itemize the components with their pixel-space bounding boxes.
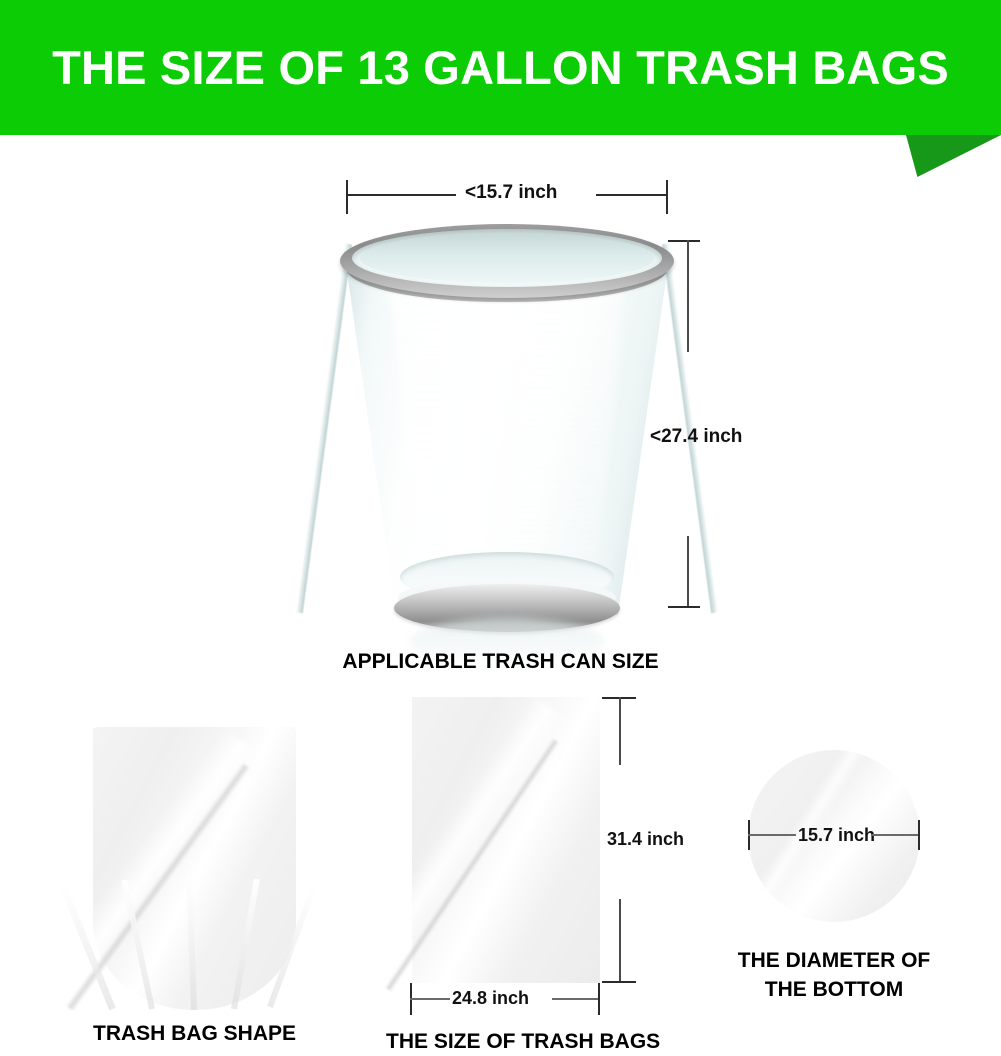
bag-width-line-left [410,998,450,1000]
flat-bag-crease [385,738,559,991]
header-banner: THE SIZE OF 13 GALLON TRASH BAGS [0,0,1001,135]
can-edge-left [296,244,352,614]
bottom-circle-caption-line1: THE DIAMETER OF [710,946,958,975]
ribbon-fold-shape [906,135,1001,177]
trash-can-illustration [336,222,678,632]
bag-width-label: 24.8 inch [452,988,529,1009]
circle-diameter-line-left [748,834,796,836]
bag-crease-4 [231,878,260,1009]
bag-crease-3 [186,875,197,1010]
trash-can-caption: APPLICABLE TRASH CAN SIZE [0,650,1001,674]
bag-crease-5 [267,886,316,1008]
can-height-cap-bottom [668,606,700,608]
bottom-circle-caption: THE DIAMETER OF THE BOTTOM [710,946,958,1004]
bag-shape-crease-diagonal [66,763,250,1012]
can-width-line-right [596,194,668,196]
circle-diameter-label: 15.7 inch [798,825,875,846]
infographic-page: THE SIZE OF 13 GALLON TRASH BAGS <15.7 i… [0,0,1001,1056]
flat-bag-illustration [412,697,600,983]
can-height-line-bottom [687,536,689,608]
bag-height-cap-bottom [602,981,636,983]
bag-height-label: 31.4 inch [607,829,684,850]
can-width-line-left [346,194,456,196]
can-rim-lip [360,233,654,283]
trash-bag-shape-caption: TRASH BAG SHAPE [93,1022,296,1046]
can-width-cap-left [346,180,348,214]
page-title: THE SIZE OF 13 GALLON TRASH BAGS [0,0,1001,135]
bag-width-line-right [552,998,600,1000]
trash-bag-shape-illustration [93,727,296,1010]
can-width-cap-right [666,180,668,214]
bag-width-cap-right [598,983,600,1015]
can-height-cap-top [668,240,700,242]
bag-height-line-bottom [619,899,621,983]
bag-height-line-top [619,697,621,765]
flat-bag-highlight [338,696,567,1009]
can-width-label: <15.7 inch [465,182,557,204]
circle-diameter-cap-right [918,820,920,850]
can-height-line-top [687,240,689,352]
flat-bag-caption: THE SIZE OF TRASH BAGS [386,1030,626,1054]
can-height-label: <27.4 inch [650,426,742,448]
circle-diameter-line-right [872,834,920,836]
bottom-circle-caption-line2: THE BOTTOM [710,975,958,1004]
